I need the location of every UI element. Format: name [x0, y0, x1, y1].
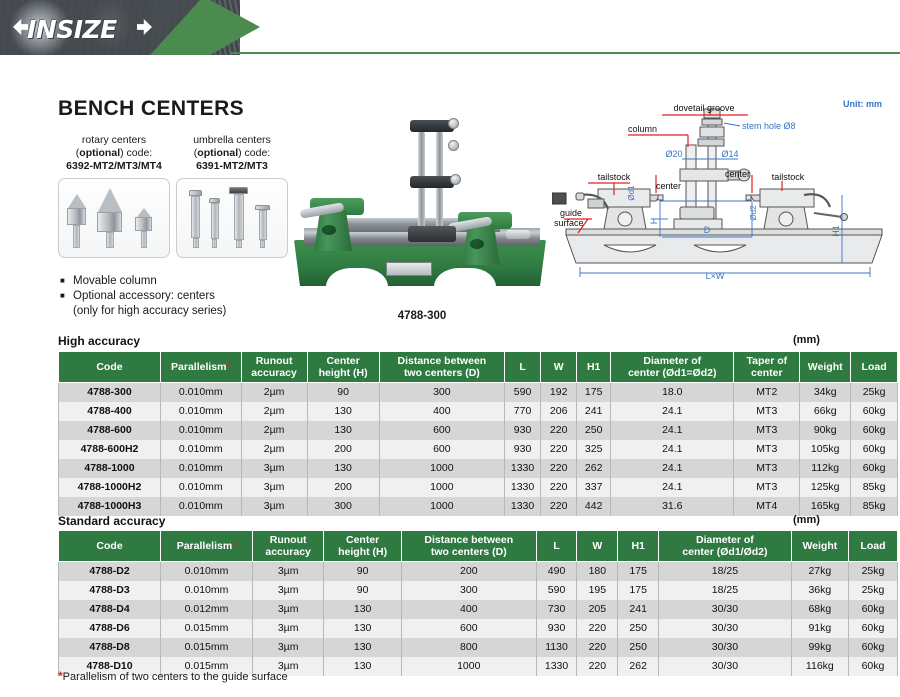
table-cell: 730 — [536, 600, 577, 619]
rotary-centers-code: 6392-MT2/MT3/MT4 — [58, 160, 170, 173]
table-cell: 1330 — [505, 459, 541, 478]
table-row: 4788-1000H20.010mm3µm2001000133022033724… — [59, 478, 898, 497]
table-cell: 200 — [307, 440, 379, 459]
table-row: 4788-D20.010mm3µm9020049018017518/2527kg… — [59, 562, 898, 582]
table-cell: 130 — [324, 638, 402, 657]
table-cell: 325 — [577, 440, 611, 459]
column-header: Load — [848, 531, 897, 562]
table-cell: 24.1 — [611, 478, 734, 497]
table-cell: 130 — [324, 619, 402, 638]
table-cell: 85kg — [851, 478, 898, 497]
cell-code: 4788-300 — [59, 383, 161, 403]
table-cell: 90kg — [800, 421, 851, 440]
table-cell: 442 — [577, 497, 611, 516]
table-cell: 0.010mm — [160, 421, 241, 440]
table-row: 4788-600H20.010mm2µm20060093022032524.1M… — [59, 440, 898, 459]
column-header: Centerheight (H) — [307, 352, 379, 383]
product-caption: 4788-300 — [282, 310, 562, 322]
table-cell: 36kg — [791, 581, 848, 600]
column-header: Distance betweentwo centers (D) — [401, 531, 536, 562]
umbrella-center-3-icon — [229, 187, 248, 248]
table-cell: 130 — [307, 421, 379, 440]
table-cell: 262 — [577, 459, 611, 478]
page-title: BENCH CENTERS — [58, 97, 244, 121]
table-cell: MT3 — [734, 459, 800, 478]
rotary-centers-line2: (optional) code: — [58, 147, 170, 160]
table-cell: 930 — [536, 619, 577, 638]
table-cell: 175 — [618, 562, 659, 582]
umbrella-center-1-icon — [189, 190, 202, 248]
table-cell: 0.010mm — [160, 459, 241, 478]
table-cell: MT4 — [734, 497, 800, 516]
banner-green-block — [150, 0, 900, 55]
unit-label-high-accuracy: (mm) — [793, 334, 820, 346]
table-cell: 91kg — [791, 619, 848, 638]
table-cell: 0.015mm — [161, 638, 253, 657]
diagram-label-tailstock-right: tailstock — [772, 172, 805, 182]
table-row: 4788-D30.010mm3µm9030059019517518/2536kg… — [59, 581, 898, 600]
umbrella-centers-image — [176, 178, 288, 258]
high-accuracy-table: CodeParallelism*RunoutaccuracyCenterheig… — [58, 351, 898, 516]
product-tailstock-left — [306, 198, 364, 250]
footnote: *Parallelism of two centers to the guide… — [58, 669, 288, 683]
table-cell: 3µm — [252, 619, 323, 638]
section-label-standard-accuracy: Standard accuracy — [58, 514, 165, 528]
column-header: Diameter ofcenter (Ød1/Ød2) — [659, 531, 792, 562]
table-cell: 112kg — [800, 459, 851, 478]
table-cell: 25kg — [851, 383, 898, 403]
table-cell: 600 — [379, 421, 504, 440]
column-header: W — [541, 352, 577, 383]
header-asterisk: * — [232, 540, 236, 552]
table-cell: 180 — [577, 562, 618, 582]
diagram-label-center-left: center — [656, 181, 681, 191]
bullet-item: Movable column — [60, 274, 226, 289]
table-header-row: CodeParallelism*RunoutaccuracyCenterheig… — [59, 531, 898, 562]
table-cell: 400 — [401, 600, 536, 619]
section-label-high-accuracy: High accuracy — [58, 334, 140, 348]
cell-code: 4788-600H2 — [59, 440, 161, 459]
table-cell: 25kg — [848, 581, 897, 600]
table-cell: 105kg — [800, 440, 851, 459]
diagram-label-center-right: center — [725, 169, 750, 179]
table-cell: 250 — [618, 638, 659, 657]
product-photo — [282, 100, 562, 300]
column-header: Distance betweentwo centers (D) — [379, 352, 504, 383]
table-cell: 2µm — [241, 440, 307, 459]
table-cell: 85kg — [851, 497, 898, 516]
table-cell: 125kg — [800, 478, 851, 497]
table-cell: 600 — [401, 619, 536, 638]
table-cell: 1330 — [505, 478, 541, 497]
table-cell: 2µm — [241, 402, 307, 421]
table-cell: 30/30 — [659, 619, 792, 638]
bullet-item: Optional accessory: centers — [60, 289, 226, 304]
rotary-centers-line1: rotary centers — [58, 134, 170, 147]
table-cell: 300 — [307, 497, 379, 516]
banner-divider — [230, 52, 900, 54]
table-cell: 930 — [505, 440, 541, 459]
table-cell: 220 — [577, 657, 618, 676]
table-cell: 0.012mm — [161, 600, 253, 619]
table-cell: 250 — [618, 619, 659, 638]
table-cell: 1000 — [379, 497, 504, 516]
table-cell: 800 — [401, 638, 536, 657]
table-cell: 130 — [307, 459, 379, 478]
umbrella-centers-line2: (optional) code: — [176, 147, 288, 160]
table-cell: 18.0 — [611, 383, 734, 403]
table-cell: 99kg — [791, 638, 848, 657]
table-cell: 24.1 — [611, 421, 734, 440]
table-cell: 116kg — [791, 657, 848, 676]
column-header: Parallelism* — [161, 531, 253, 562]
rotary-centers-image — [58, 178, 170, 258]
table-cell: 0.010mm — [160, 440, 241, 459]
table-cell: 0.015mm — [161, 619, 253, 638]
footnote-text: Parallelism of two centers to the guide … — [63, 671, 288, 683]
header-banner: INSIZE — [0, 0, 900, 55]
column-header: Weight — [791, 531, 848, 562]
umbrella-center-2-icon — [209, 198, 220, 248]
diagram-label-od1: Ød1 — [627, 185, 636, 201]
product-tailstock-right — [454, 212, 512, 264]
table-cell: 1130 — [536, 638, 577, 657]
table-cell: 18/25 — [659, 562, 792, 582]
table-cell: 3µm — [241, 497, 307, 516]
standard-accuracy-table: CodeParallelism*RunoutaccuracyCenterheig… — [58, 530, 898, 676]
table-cell: 490 — [536, 562, 577, 582]
table-cell: 25kg — [848, 562, 897, 582]
table-cell: 220 — [541, 478, 577, 497]
spindle-icon — [506, 230, 530, 239]
umbrella-centers-code: 6391-MT2/MT3 — [176, 160, 288, 173]
table-cell: 3µm — [241, 478, 307, 497]
column-header: Runoutaccuracy — [252, 531, 323, 562]
table-cell: 770 — [505, 402, 541, 421]
column-header: L — [536, 531, 577, 562]
table-cell: 200 — [307, 478, 379, 497]
table-cell: 3µm — [252, 562, 323, 582]
table-cell: 60kg — [851, 440, 898, 459]
diagram-label-d20: Ø20 — [665, 149, 682, 159]
diagram-label-dovetail: dovetail groove — [673, 103, 734, 113]
table-cell: 31.6 — [611, 497, 734, 516]
table-cell: 30/30 — [659, 657, 792, 676]
table-cell: 130 — [307, 402, 379, 421]
column-header: Centerheight (H) — [324, 531, 402, 562]
table-cell: MT2 — [734, 383, 800, 403]
diagram-label-d14: Ø14 — [721, 149, 738, 159]
table-cell: 192 — [541, 383, 577, 403]
table-row: 4788-4000.010mm2µm13040077020624124.1MT3… — [59, 402, 898, 421]
table-cell: 220 — [541, 459, 577, 478]
cell-code: 4788-D8 — [59, 638, 161, 657]
technical-diagram: L×W D H H1 Ø20 Ø14 Ød1 Ød2 stem hole Ø8 … — [552, 95, 896, 280]
table-cell: 3µm — [252, 638, 323, 657]
column-header: Runoutaccuracy — [241, 352, 307, 383]
diagram-label-tailstock-left: tailstock — [598, 172, 631, 182]
column-header: H1 — [577, 352, 611, 383]
diagram-label-d: D — [704, 225, 711, 235]
page-root: INSIZE BENCH CENTERS rotary centers (opt… — [0, 0, 900, 697]
table-cell: 2µm — [241, 421, 307, 440]
banner-green-chevron — [150, 0, 900, 55]
table-cell: 195 — [577, 581, 618, 600]
table-cell: 1000 — [401, 657, 536, 676]
table-cell: 60kg — [851, 402, 898, 421]
table-cell: 66kg — [800, 402, 851, 421]
table-cell: 205 — [577, 600, 618, 619]
table-cell: 0.010mm — [160, 383, 241, 403]
table-cell: 3µm — [241, 459, 307, 478]
table-cell: 250 — [577, 421, 611, 440]
table-cell: 2µm — [241, 383, 307, 403]
table-cell: 90 — [324, 562, 402, 582]
table-cell: 337 — [577, 478, 611, 497]
table-cell: 0.010mm — [161, 562, 253, 582]
table-body: 4788-D20.010mm3µm9020049018017518/2527kg… — [59, 562, 898, 677]
table-cell: 1000 — [379, 459, 504, 478]
table-cell: MT3 — [734, 421, 800, 440]
table-cell: 0.010mm — [160, 402, 241, 421]
table-cell: 1330 — [505, 497, 541, 516]
table-cell: 930 — [505, 421, 541, 440]
table-cell: 27kg — [791, 562, 848, 582]
table-cell: 60kg — [851, 421, 898, 440]
column-header: Weight — [800, 352, 851, 383]
diagram-label-lw: L×W — [706, 271, 725, 280]
table-cell: 3µm — [252, 581, 323, 600]
table-cell: 206 — [541, 402, 577, 421]
table-cell: 300 — [401, 581, 536, 600]
cell-code: 4788-D6 — [59, 619, 161, 638]
table-cell: 1000 — [379, 478, 504, 497]
table-cell: 200 — [401, 562, 536, 582]
rotary-center-3-icon — [135, 208, 152, 248]
cell-code: 4788-1000 — [59, 459, 161, 478]
table-cell: 220 — [577, 619, 618, 638]
table-cell: 241 — [577, 402, 611, 421]
diagram-label-unit: Unit: mm — [843, 99, 882, 109]
table-row: 4788-10000.010mm3µm1301000133022026224.1… — [59, 459, 898, 478]
column-header: W — [577, 531, 618, 562]
table-body: 4788-3000.010mm2µm9030059019217518.0MT23… — [59, 383, 898, 517]
diagram-label-h1: H1 — [831, 225, 841, 237]
cell-code: 4788-400 — [59, 402, 161, 421]
column-header: Parallelism* — [160, 352, 241, 383]
column-header: Taper ofcenter — [734, 352, 800, 383]
table-cell: 60kg — [851, 459, 898, 478]
table-cell: 24.1 — [611, 440, 734, 459]
table-cell: 68kg — [791, 600, 848, 619]
table-cell: 130 — [324, 600, 402, 619]
table-cell: 590 — [536, 581, 577, 600]
umbrella-centers-line1: umbrella centers — [176, 134, 288, 147]
table-cell: 90 — [324, 581, 402, 600]
table-cell: 300 — [379, 383, 504, 403]
table-cell: 60kg — [848, 638, 897, 657]
table-cell: 400 — [379, 402, 504, 421]
umbrella-centers-block: umbrella centers (optional) code: 6391-M… — [176, 134, 288, 258]
diagram-label-h: H — [649, 218, 659, 225]
table-cell: MT3 — [734, 440, 800, 459]
unit-label-standard-accuracy: (mm) — [793, 514, 820, 526]
rotary-center-1-icon — [67, 194, 86, 248]
table-cell: 60kg — [848, 657, 897, 676]
table-row: 4788-D40.012mm3µm13040073020524130/3068k… — [59, 600, 898, 619]
cell-code: 4788-1000H2 — [59, 478, 161, 497]
column-header: Load — [851, 352, 898, 383]
table-row: 4788-D60.015mm3µm13060093022025030/3091k… — [59, 619, 898, 638]
product-nameplate — [386, 262, 432, 276]
table-cell: 0.010mm — [160, 478, 241, 497]
column-header: Code — [59, 531, 161, 562]
table-row: 4788-D80.015mm3µm130800113022025030/3099… — [59, 638, 898, 657]
table-cell: 24.1 — [611, 459, 734, 478]
table-cell: 34kg — [800, 383, 851, 403]
feature-bullets: Movable column Optional accessory: cente… — [60, 274, 226, 319]
cell-code: 4788-D2 — [59, 562, 161, 582]
bullet-subtext: (only for high accuracy series) — [60, 304, 226, 319]
column-header: H1 — [618, 531, 659, 562]
brand-logo: INSIZE — [27, 15, 117, 44]
table-cell: 220 — [541, 440, 577, 459]
table-cell: 90 — [307, 383, 379, 403]
table-cell: 220 — [577, 638, 618, 657]
product-column-stand — [402, 118, 462, 238]
table-cell: 30/30 — [659, 638, 792, 657]
table-cell: 60kg — [848, 619, 897, 638]
table-cell: 600 — [379, 440, 504, 459]
cell-code: 4788-D4 — [59, 600, 161, 619]
rotary-centers-block: rotary centers (optional) code: 6392-MT2… — [58, 134, 170, 258]
table-cell: 24.1 — [611, 402, 734, 421]
column-header: Diameter ofcenter (Ød1=Ød2) — [611, 352, 734, 383]
table-header-row: CodeParallelism*RunoutaccuracyCenterheig… — [59, 352, 898, 383]
table-cell: 3µm — [252, 600, 323, 619]
table-cell: 60kg — [848, 600, 897, 619]
umbrella-center-4-icon — [255, 205, 270, 248]
column-header: L — [505, 352, 541, 383]
table-row: 4788-3000.010mm2µm9030059019217518.0MT23… — [59, 383, 898, 403]
diagram-label-column: column — [628, 124, 657, 134]
rotary-center-2-icon — [97, 188, 122, 248]
table-cell: 220 — [541, 497, 577, 516]
table-cell: 0.010mm — [160, 497, 241, 516]
diagram-label-guide-2: surface — [554, 218, 584, 228]
table-cell: MT3 — [734, 478, 800, 497]
table-cell: 18/25 — [659, 581, 792, 600]
diagram-label-guide-1: guide — [560, 208, 582, 218]
table-cell: 0.010mm — [161, 581, 253, 600]
table-cell: 590 — [505, 383, 541, 403]
diagram-label-od2: Ød2 — [749, 205, 758, 221]
cell-code: 4788-600 — [59, 421, 161, 440]
table-cell: 30/30 — [659, 600, 792, 619]
header-asterisk: * — [226, 361, 230, 373]
table-cell: MT3 — [734, 402, 800, 421]
table-cell: 1330 — [536, 657, 577, 676]
table-cell: 175 — [577, 383, 611, 403]
diagram-label-stem-hole: stem hole Ø8 — [742, 121, 796, 131]
cell-code: 4788-D3 — [59, 581, 161, 600]
table-row: 4788-6000.010mm2µm13060093022025024.1MT3… — [59, 421, 898, 440]
table-row: 4788-1000H30.010mm3µm3001000133022044231… — [59, 497, 898, 516]
table-cell: 241 — [618, 600, 659, 619]
table-cell: 262 — [618, 657, 659, 676]
table-cell: 220 — [541, 421, 577, 440]
column-header: Code — [59, 352, 161, 383]
table-cell: 130 — [324, 657, 402, 676]
table-cell: 175 — [618, 581, 659, 600]
